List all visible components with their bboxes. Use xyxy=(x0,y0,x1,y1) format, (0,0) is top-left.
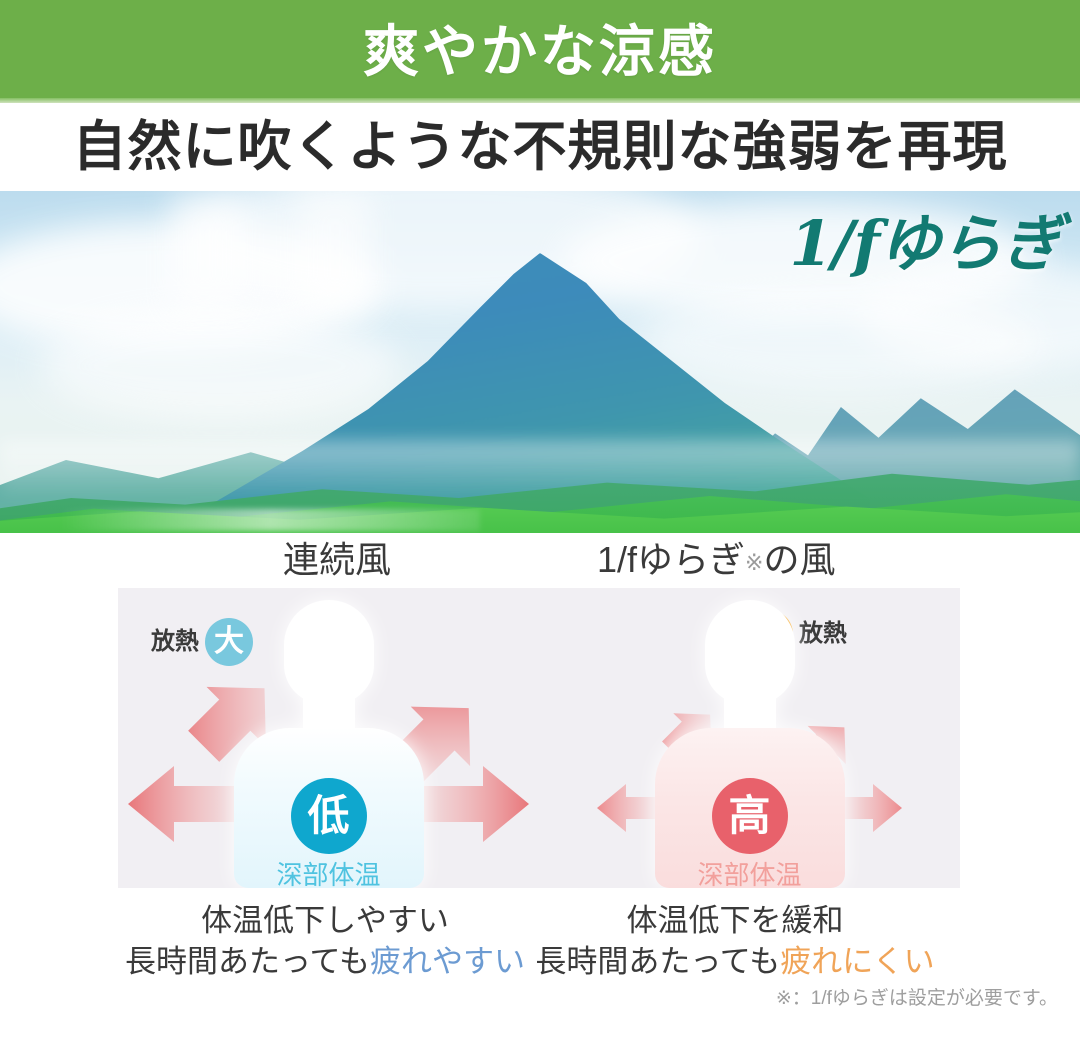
comparison-panel: 放熱 大 xyxy=(118,588,960,888)
core-temperature-label-left: 深部体温 xyxy=(234,862,424,888)
column-heading-continuous-wind: 連続風 xyxy=(283,542,391,578)
core-temperature-label-right: 深部体温 xyxy=(655,862,845,888)
footnote-text: ※：1/fゆらぎは設定が必要です。 xyxy=(776,989,1058,1008)
panel-half-continuous-wind: 放熱 大 xyxy=(118,588,539,888)
header-banner: 爽やかな涼感 xyxy=(0,0,1080,103)
caption-fluctuation-wind: 体温低下を緩和 長時間あたっても疲れにくい xyxy=(515,901,955,983)
caption-line-2: 長時間あたっても疲れやすい xyxy=(105,942,545,983)
caption-line-1: 体温低下しやすい xyxy=(105,901,545,942)
comparison-section: 連続風 1/fゆらぎ※の風 放熱 大 xyxy=(0,533,1080,1053)
body-silhouette-high-temp: 高 深部体温 xyxy=(655,600,845,888)
light-beam xyxy=(170,191,240,311)
subtitle-bar: 自然に吹くような不規則な強弱を再現 xyxy=(0,103,1080,191)
heat-arrow-left xyxy=(128,766,246,842)
caption-line-2: 長時間あたっても疲れにくい xyxy=(515,942,955,983)
light-beam xyxy=(300,191,370,311)
caption-line-2-highlight: 疲れやすい xyxy=(370,944,525,979)
core-temperature-badge-low: 低 xyxy=(291,778,367,854)
page-title: 爽やかな涼感 xyxy=(363,24,717,80)
column-heading-fluctuation-wind: 1/fゆらぎ※の風 xyxy=(597,542,835,578)
village-haze xyxy=(60,509,480,531)
caption-continuous-wind: 体温低下しやすい 長時間あたっても疲れやすい xyxy=(105,901,545,983)
cloud-icon xyxy=(640,291,1040,391)
mountain-landscape-photo: 1/fゆらぎ xyxy=(0,191,1080,533)
reference-mark: ※ xyxy=(745,550,763,575)
panel-half-fluctuation-wind: 小 放熱 xyxy=(539,588,960,888)
caption-line-2-normal: 長時間あたっても xyxy=(535,944,780,979)
cloud-icon xyxy=(40,311,400,421)
body-silhouette-low-temp: 低 深部体温 xyxy=(234,600,424,888)
heading-main-text: 1/fゆらぎ xyxy=(597,539,745,580)
heat-arrow-right xyxy=(411,766,529,842)
heading-suffix-text: の風 xyxy=(763,539,835,580)
caption-line-2-normal: 長時間あたっても xyxy=(125,944,370,979)
one-over-f-logo: 1/fゆらぎ xyxy=(790,213,1062,275)
heat-dissipation-label: 放熱 xyxy=(151,630,199,654)
caption-line-1: 体温低下を緩和 xyxy=(515,901,955,942)
subtitle-text: 自然に吹くような不規則な強弱を再現 xyxy=(73,120,1008,174)
core-temperature-badge-high: 高 xyxy=(712,778,788,854)
caption-line-2-highlight: 疲れにくい xyxy=(780,944,934,979)
